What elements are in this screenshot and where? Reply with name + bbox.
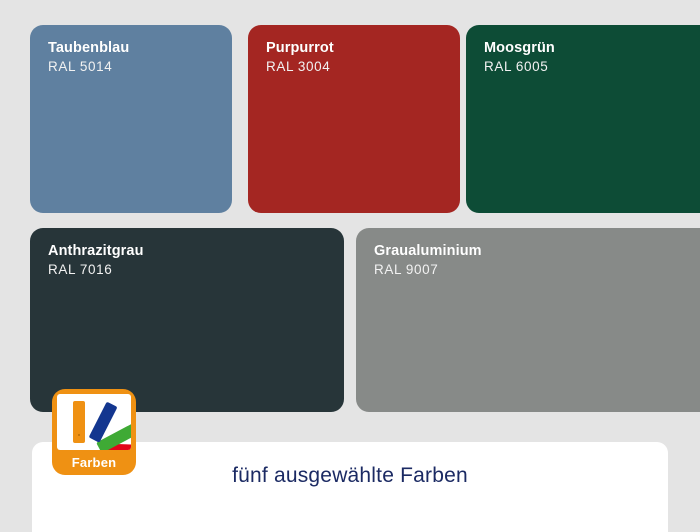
swatch-color-name: Graualuminium [374,243,482,260]
color-palette-page: Taubenblau RAL 5014 Purpurrot RAL 3004 M… [0,0,700,525]
swatch-color-name: Anthrazitgrau [48,243,144,260]
swatch-label-group: Purpurrot RAL 3004 [266,40,334,75]
swatch-label-group: Anthrazitgrau RAL 7016 [48,243,144,278]
color-swatch-anthrazitgrau[interactable]: Anthrazitgrau RAL 7016 [30,228,344,412]
swatch-color-name: Moosgrün [484,40,555,57]
swatch-ral-code: RAL 9007 [374,262,482,278]
swatch-ral-code: RAL 5014 [48,59,129,75]
color-swatch-purpurrot[interactable]: Purpurrot RAL 3004 [248,25,460,213]
swatch-ral-code: RAL 7016 [48,262,144,278]
swatch-label-group: Taubenblau RAL 5014 [48,40,129,75]
logo-label: Farben [52,455,136,470]
fan-pivot-dot-icon [78,434,80,436]
fan-card-orange-icon [73,401,85,443]
swatch-ral-code: RAL 6005 [484,59,555,75]
swatch-color-name: Purpurrot [266,40,334,57]
color-swatch-graualuminium[interactable]: Graualuminium RAL 9007 [356,228,700,412]
swatch-label-group: Moosgrün RAL 6005 [484,40,555,75]
color-swatch-moosgruen[interactable]: Moosgrün RAL 6005 [466,25,700,213]
color-fan-icon [57,394,131,450]
swatch-color-name: Taubenblau [48,40,129,57]
farben-logo-badge[interactable]: Farben [52,389,136,475]
color-swatch-taubenblau[interactable]: Taubenblau RAL 5014 [30,25,232,213]
swatch-label-group: Graualuminium RAL 9007 [374,243,482,278]
swatch-ral-code: RAL 3004 [266,59,334,75]
